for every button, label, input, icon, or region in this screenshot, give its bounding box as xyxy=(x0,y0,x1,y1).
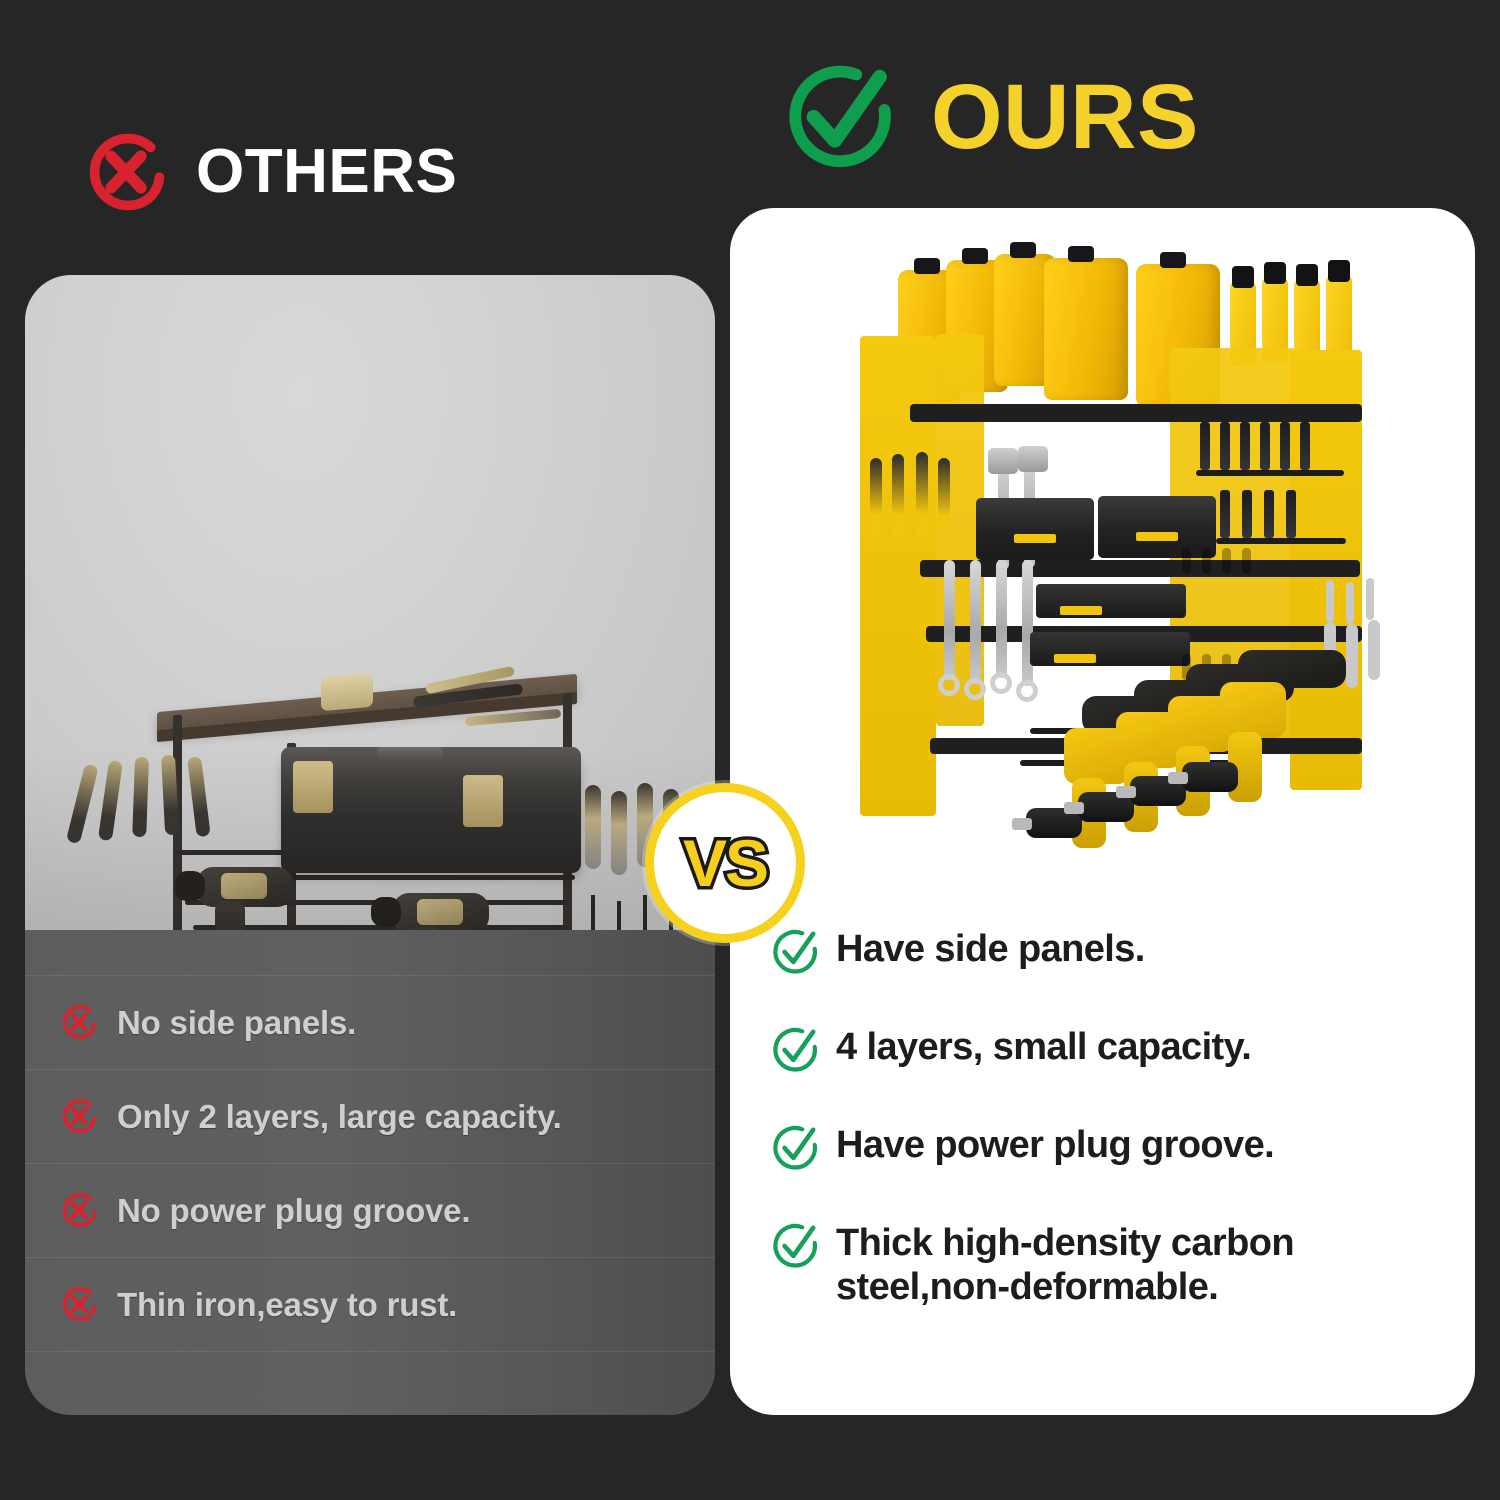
wrench-ring xyxy=(964,678,986,700)
others-product-photo xyxy=(25,275,715,930)
circle-check-icon xyxy=(770,1024,822,1076)
photo-shade xyxy=(25,275,715,930)
drill-chuck xyxy=(1182,762,1238,792)
flat-case xyxy=(1036,584,1186,618)
circle-check-icon xyxy=(783,58,901,176)
others-bullet-list: No side panels. Only 2 layers, large cap… xyxy=(25,975,715,1352)
case-label xyxy=(1060,606,1102,615)
oil-jug xyxy=(1044,258,1128,400)
jug-cap xyxy=(1068,246,1094,262)
jug-cap xyxy=(914,258,940,274)
plier xyxy=(892,454,904,538)
others-header: OTHERS xyxy=(82,128,457,216)
plug-groove-slot xyxy=(1242,548,1251,574)
drill-bit xyxy=(1260,422,1270,470)
bit-holder-bar xyxy=(1216,538,1346,544)
drill-bit xyxy=(1286,490,1296,538)
combination-wrench xyxy=(944,560,955,680)
drill-bit xyxy=(1220,490,1230,538)
wrench-ring xyxy=(990,672,1012,694)
drill-bit xyxy=(1240,422,1250,470)
list-item: No side panels. xyxy=(25,975,715,1070)
jug-cap xyxy=(1160,252,1186,268)
list-item-label: Have side panels. xyxy=(836,926,1145,971)
spray-cap xyxy=(1232,266,1254,288)
plier xyxy=(870,458,882,536)
ours-bullet-list: Have side panels. 4 layers, small capaci… xyxy=(770,926,1470,1355)
circle-check-icon xyxy=(770,1122,822,1174)
others-heading-text: OTHERS xyxy=(196,141,457,203)
spray-can xyxy=(1326,276,1352,360)
vs-badge: VS xyxy=(645,783,805,943)
list-item-label: 4 layers, small capacity. xyxy=(836,1024,1251,1069)
case-label xyxy=(1054,654,1096,663)
vs-label: VS xyxy=(683,830,767,896)
wrench-ring xyxy=(938,674,960,696)
list-item-label: Only 2 layers, large capacity. xyxy=(117,1096,562,1137)
list-item-label: No side panels. xyxy=(117,1002,356,1043)
circle-check-icon xyxy=(770,1220,822,1272)
wrench-ring xyxy=(1016,680,1038,702)
shelf-middle xyxy=(920,560,1360,577)
drill-tip xyxy=(1116,786,1136,798)
list-item: 4 layers, small capacity. xyxy=(770,1024,1470,1122)
list-item: No power plug groove. xyxy=(25,1164,715,1258)
circle-x-icon xyxy=(82,128,170,216)
hanging-wrench xyxy=(1346,624,1358,688)
list-item-label: Thick high-density carbon steel,non-defo… xyxy=(836,1220,1470,1309)
drill-tip xyxy=(1012,818,1032,830)
list-item: Thin iron,easy to rust. xyxy=(25,1258,715,1352)
list-item: Thick high-density carbon steel,non-defo… xyxy=(770,1220,1470,1355)
list-item: Have side panels. xyxy=(770,926,1470,1024)
drill-tip xyxy=(1064,802,1084,814)
storage-bin xyxy=(976,498,1094,560)
list-item-label: No power plug groove. xyxy=(117,1190,470,1231)
drill-bit xyxy=(1300,422,1310,470)
drill-bit xyxy=(1280,422,1290,470)
wrench-head xyxy=(988,448,1018,474)
storage-bin xyxy=(1098,496,1216,558)
circle-x-icon xyxy=(59,1002,99,1042)
spray-cap xyxy=(1264,262,1286,284)
drill-bit xyxy=(1200,422,1210,470)
circle-x-icon xyxy=(59,1096,99,1136)
list-item: Only 2 layers, large capacity. xyxy=(25,1070,715,1164)
drill-bit xyxy=(1220,422,1230,470)
jug-cap xyxy=(962,248,988,264)
s-hook xyxy=(1366,578,1374,620)
wrench-head xyxy=(1018,446,1048,472)
spray-cap xyxy=(1328,260,1350,282)
spray-cap xyxy=(1296,264,1318,286)
drill-bit xyxy=(1264,490,1274,538)
bit-holder-bar xyxy=(1196,470,1344,476)
jug-cap xyxy=(1010,242,1036,258)
bin-label xyxy=(1014,534,1056,543)
combination-wrench xyxy=(1022,560,1033,686)
ours-product-photo xyxy=(730,208,1475,926)
s-hook xyxy=(1346,582,1354,624)
combination-wrench xyxy=(996,560,1007,678)
drill-body xyxy=(1220,682,1286,738)
hanging-wrench xyxy=(1368,620,1380,680)
circle-x-icon xyxy=(59,1190,99,1230)
drill-tip xyxy=(1168,772,1188,784)
shelf-top xyxy=(910,404,1362,422)
plier xyxy=(916,452,928,538)
ours-card: Have side panels. 4 layers, small capaci… xyxy=(730,208,1475,1415)
list-item-label: Have power plug groove. xyxy=(836,1122,1274,1167)
list-item-label: Thin iron,easy to rust. xyxy=(117,1284,457,1325)
combination-wrench xyxy=(970,560,981,684)
circle-check-icon xyxy=(770,926,822,978)
circle-x-icon xyxy=(59,1284,99,1324)
list-item: Have power plug groove. xyxy=(770,1122,1470,1220)
ours-header: OURS xyxy=(783,58,1199,176)
ours-heading-text: OURS xyxy=(931,71,1199,163)
plug-groove-slot xyxy=(1222,548,1231,574)
plier xyxy=(938,458,950,538)
s-hook xyxy=(1326,580,1334,622)
bin-label xyxy=(1136,532,1178,541)
plug-groove-slot xyxy=(1182,548,1191,574)
drill-bit xyxy=(1242,490,1252,538)
plug-groove-slot xyxy=(1202,548,1211,574)
others-card: No side panels. Only 2 layers, large cap… xyxy=(25,275,715,1415)
